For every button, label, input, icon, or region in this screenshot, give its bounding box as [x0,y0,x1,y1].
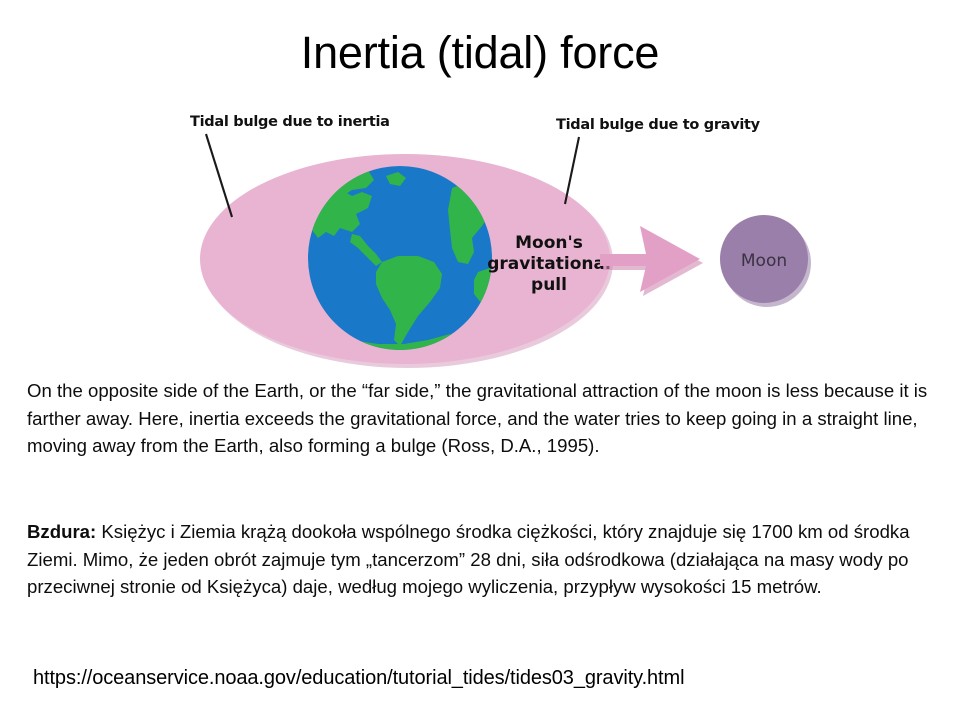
left-bulge-label: Tidal bulge due to inertia [190,114,390,130]
paragraph-polish-lead: Bzdura: [27,521,96,542]
paragraph-polish: Bzdura: Księżyc i Ziemia krążą dookoła w… [27,518,933,601]
paragraph-polish-body: Księżyc i Ziemia krążą dookoła wspólnego… [27,521,910,597]
moon-label: Moon [741,251,787,271]
right-bulge-label: Tidal bulge due to gravity [556,117,761,133]
page-title: Inertia (tidal) force [0,27,960,79]
gravitational-pull-label-line2: gravitational [487,254,611,274]
gravitational-pull-label-line1: Moon's [515,233,583,253]
moon-body: Moon [720,215,811,307]
paragraph-english: On the opposite side of the Earth, or th… [27,377,933,460]
left-bulge-leader-line [206,134,232,217]
earth-moon-tidal-diagram: Moon's gravitational pull Moon Tidal bul… [0,96,960,371]
source-url[interactable]: https://oceanservice.noaa.gov/education/… [33,665,684,691]
right-bulge-leader-line [565,137,579,204]
gravitational-pull-label-line3: pull [531,275,567,295]
gravitational-pull-arrow [600,226,703,296]
